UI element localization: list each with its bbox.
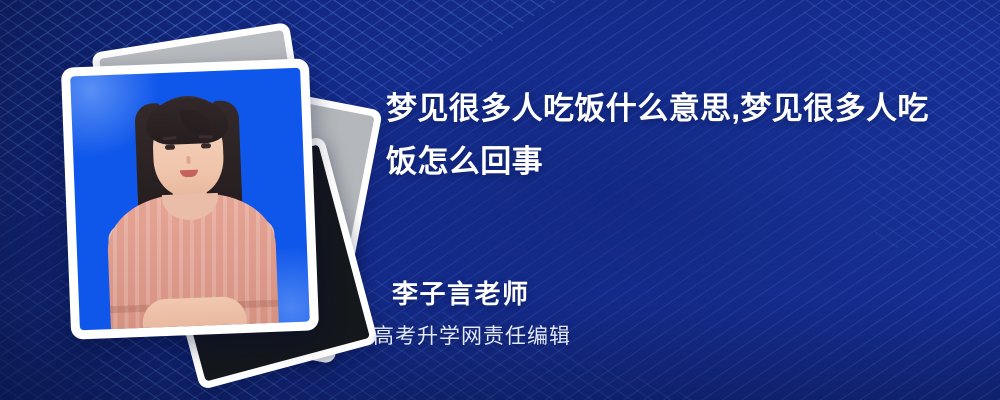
author-role: 高考升学网责任编辑	[373, 320, 571, 350]
author-portrait-photo	[70, 68, 310, 331]
author-photo-card[interactable]	[61, 58, 319, 339]
article-author-banner: 梦见很多人吃饭什么意思,梦见很多人吃饭怎么回事 李子言老师 高考升学网责任编辑	[0, 0, 1000, 400]
author-photo-stack[interactable]	[52, 28, 352, 368]
portrait-figure	[70, 68, 310, 331]
author-name[interactable]: 李子言老师	[392, 274, 530, 311]
article-title[interactable]: 梦见很多人吃饭什么意思,梦见很多人吃饭怎么回事	[386, 82, 956, 188]
